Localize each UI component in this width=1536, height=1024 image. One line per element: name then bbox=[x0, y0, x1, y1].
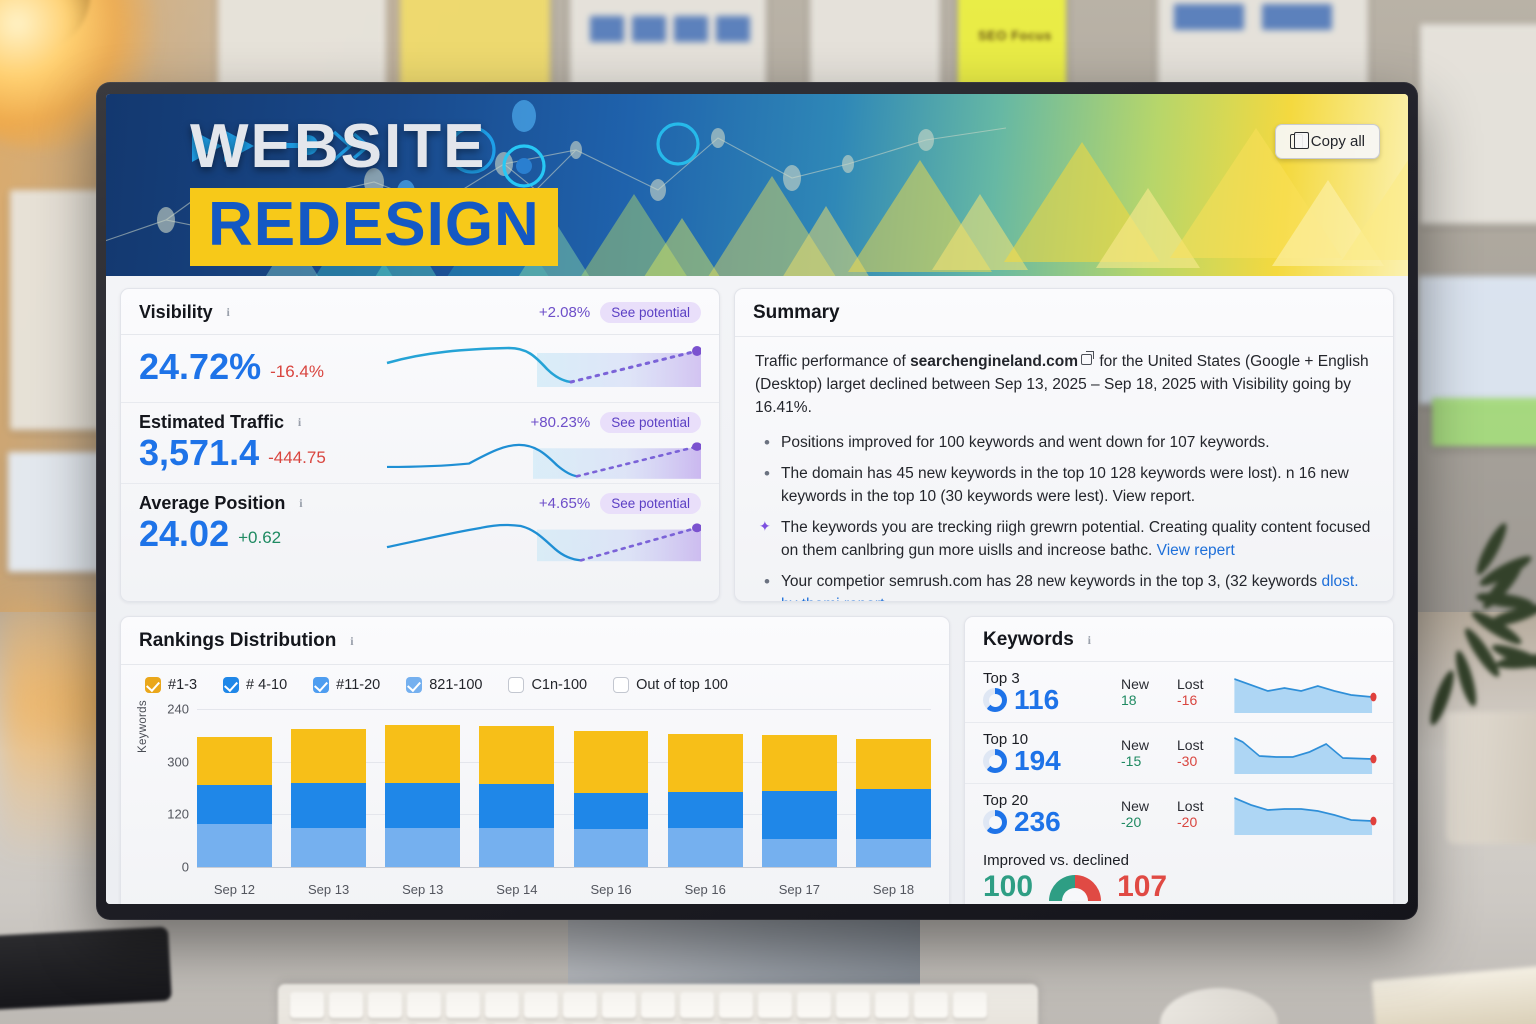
summary-header: Summary bbox=[735, 289, 1393, 337]
chart-y-tick: 120 bbox=[167, 807, 189, 822]
chart-x-tick: Sep 18 bbox=[856, 882, 931, 897]
bullet-text: The domain has 45 new keywords in the to… bbox=[781, 465, 1349, 504]
keywords-lost-stat: Lost -16 bbox=[1177, 676, 1223, 708]
chart-bar-segment bbox=[291, 729, 366, 783]
chart-bar-segment bbox=[385, 828, 460, 867]
chart-x-axis-labels: Sep 12Sep 13Sep 13Sep 14Sep 16Sep 16Sep … bbox=[197, 882, 931, 897]
legend-label: #1-3 bbox=[168, 677, 197, 693]
view-report-link[interactable]: View repert bbox=[1157, 542, 1235, 559]
new-label: New bbox=[1121, 798, 1167, 814]
chart-bar-column[interactable] bbox=[762, 709, 837, 867]
keywords-row-value: 194 bbox=[1014, 747, 1061, 775]
list-item: Your competior semrush.com has 28 new ke… bbox=[755, 571, 1373, 602]
metric-label: Visibility bbox=[139, 302, 213, 323]
chart-bar-segment bbox=[385, 783, 460, 828]
keywords-title: Keywords bbox=[983, 629, 1074, 651]
dashboard-body: Visibility i +2.08% See potential 24.72%… bbox=[106, 276, 1408, 904]
new-value: 18 bbox=[1121, 692, 1167, 708]
legend-label: #11-20 bbox=[336, 677, 380, 693]
endpoint-dot-icon bbox=[1370, 693, 1376, 702]
chart-bar-column[interactable] bbox=[197, 709, 272, 867]
average-position-sparkline bbox=[385, 512, 701, 570]
rankings-chart: Keywords 240 300 120 0 Sep 12Sep 13Sep 1… bbox=[141, 701, 931, 897]
new-value: -20 bbox=[1121, 814, 1167, 830]
chart-x-tick: Sep 16 bbox=[574, 882, 649, 897]
keywords-row-top3: Top 3 116 New 18 Lost -16 bbox=[965, 662, 1393, 722]
keywords-footer: Improved vs. declined 100 107 bbox=[965, 844, 1393, 903]
chart-bar-segment bbox=[762, 735, 837, 790]
chart-x-tick: Sep 13 bbox=[385, 882, 460, 897]
keywords-sparkline-top20 bbox=[1233, 793, 1379, 835]
laptop-edge bbox=[0, 927, 172, 1012]
metrics-card: Visibility i +2.08% See potential 24.72%… bbox=[120, 288, 720, 602]
chart-bar-column[interactable] bbox=[479, 709, 554, 867]
legend-label: # 4-10 bbox=[246, 677, 287, 693]
info-icon[interactable]: i bbox=[1082, 633, 1097, 648]
improved-count: 100 bbox=[983, 872, 1033, 902]
legend-item-21-100[interactable]: 821-100 bbox=[406, 677, 482, 693]
keywords-lost-stat: Lost -20 bbox=[1177, 798, 1223, 830]
bullet-text: The keywords you are trecking riigh grew… bbox=[781, 519, 1370, 558]
gauge-row: 100 107 bbox=[983, 871, 1375, 903]
chart-bar-column[interactable] bbox=[668, 709, 743, 867]
chart-x-tick: Sep 14 bbox=[479, 882, 554, 897]
metric-row-estimated-traffic: Estimated Traffic i +80.23% See potentia… bbox=[121, 402, 719, 483]
metric-potential-pct: +2.08% bbox=[539, 304, 590, 321]
donut-ring-icon bbox=[983, 749, 1007, 773]
keywords-card: Keywords i Top 3 116 New 18 bbox=[964, 616, 1394, 904]
legend-label: Out of top 100 bbox=[636, 677, 728, 693]
wall-paper bbox=[8, 452, 104, 572]
chart-bar-segment bbox=[856, 739, 931, 790]
wall-paper bbox=[1420, 24, 1536, 224]
chart-bar-segment bbox=[762, 839, 837, 867]
donut-ring-icon bbox=[983, 810, 1007, 834]
chart-bar-segment bbox=[856, 789, 931, 838]
chart-y-tick: 300 bbox=[167, 754, 189, 769]
checkbox-unchecked-icon[interactable] bbox=[508, 677, 524, 693]
metric-potential-pct: +4.65% bbox=[539, 495, 590, 512]
chart-bar-segment bbox=[291, 783, 366, 828]
chart-bar-column[interactable] bbox=[291, 709, 366, 867]
sparkle-icon: ✦ bbox=[759, 519, 773, 533]
banner-title-line2: REDESIGN bbox=[208, 194, 540, 256]
metric-label: Average Position bbox=[139, 493, 285, 514]
new-label: New bbox=[1121, 676, 1167, 692]
metric-header-visibility: Visibility i +2.08% See potential bbox=[121, 289, 719, 335]
rankings-legend: #1-3 # 4-10 #11-20 821-100 bbox=[121, 665, 949, 701]
see-potential-button[interactable]: See potential bbox=[600, 493, 701, 514]
keywords-row-value: 236 bbox=[1014, 808, 1061, 836]
chart-bar-segment bbox=[291, 828, 366, 867]
lost-label: Lost bbox=[1177, 676, 1223, 692]
summary-card: Summary Traffic performance of searcheng… bbox=[734, 288, 1394, 602]
rankings-distribution-card: Rankings Distribution i #1-3 # 4-10 #11-… bbox=[120, 616, 950, 904]
legend-label: 821-100 bbox=[429, 677, 482, 693]
bullet-text: Positions improved for 100 keywords and … bbox=[781, 434, 1270, 451]
banner-title-highlight: REDESIGN bbox=[190, 188, 558, 266]
chart-x-tick: Sep 17 bbox=[762, 882, 837, 897]
keywords-row-top20: Top 20 236 New -20 Lost -20 bbox=[965, 783, 1393, 844]
rankings-header: Rankings Distribution i bbox=[121, 617, 949, 665]
checkbox-checked-icon[interactable] bbox=[406, 677, 422, 693]
chart-plot-area: 240 300 120 0 bbox=[197, 709, 931, 867]
lost-value: -30 bbox=[1177, 753, 1223, 769]
chart-bar-segment bbox=[668, 828, 743, 867]
endpoint-dot-icon bbox=[1370, 817, 1376, 826]
metric-row-visibility: 24.72% -16.4% bbox=[121, 335, 719, 402]
chart-bar-segment bbox=[574, 793, 649, 829]
bottom-row: Rankings Distribution i #1-3 # 4-10 #11-… bbox=[120, 616, 1394, 904]
chart-bar-segment bbox=[856, 839, 931, 867]
chart-bar-column[interactable] bbox=[574, 709, 649, 867]
keywords-row-left: Top 3 116 bbox=[983, 670, 1111, 714]
info-icon[interactable]: i bbox=[292, 415, 307, 430]
banner-title: WEBSITE REDESIGN bbox=[190, 116, 558, 266]
summary-body: Traffic performance of searchengineland.… bbox=[735, 337, 1393, 602]
keywords-sparkline-top3 bbox=[1233, 671, 1379, 713]
chart-x-tick: Sep 13 bbox=[291, 882, 366, 897]
summary-title: Summary bbox=[753, 302, 840, 324]
legend-label: C1n-100 bbox=[531, 677, 587, 693]
declined-count: 107 bbox=[1117, 872, 1167, 902]
copy-all-label: Copy all bbox=[1311, 133, 1365, 150]
chart-bar-segment bbox=[197, 824, 272, 867]
chart-bar-segment bbox=[479, 726, 554, 784]
report-banner: WEBSITE REDESIGN Copy all bbox=[106, 94, 1408, 276]
legend-item-out-of-top-100[interactable]: Out of top 100 bbox=[613, 677, 728, 693]
top-row: Visibility i +2.08% See potential 24.72%… bbox=[120, 288, 1394, 602]
chart-bar-segment bbox=[197, 785, 272, 824]
keywords-header: Keywords i bbox=[965, 617, 1393, 662]
checkbox-unchecked-icon[interactable] bbox=[613, 677, 629, 693]
checkbox-checked-icon[interactable] bbox=[313, 677, 329, 693]
bullet-text: Your competior semrush.com has 28 new ke… bbox=[781, 573, 1321, 590]
keywords-lost-stat: Lost -30 bbox=[1177, 737, 1223, 769]
estimated-traffic-sparkline bbox=[385, 433, 701, 489]
info-icon[interactable]: i bbox=[221, 305, 236, 320]
new-value: -15 bbox=[1121, 753, 1167, 769]
copy-icon bbox=[1290, 134, 1303, 149]
keywords-new-stat: New -15 bbox=[1121, 737, 1167, 769]
chart-bar-segment bbox=[479, 784, 554, 828]
chart-bar-segment bbox=[668, 792, 743, 828]
screen: WEBSITE REDESIGN Copy all Visibility i +… bbox=[106, 94, 1408, 904]
chart-bar-segment bbox=[574, 731, 649, 792]
chart-bar-segment bbox=[479, 828, 554, 867]
chart-y-tick: 0 bbox=[182, 860, 189, 875]
chart-y-tick: 240 bbox=[167, 702, 189, 717]
summary-bullet-list: Positions improved for 100 keywords and … bbox=[755, 432, 1373, 602]
chart-y-axis-title: Keywords bbox=[137, 700, 149, 753]
keywords-row-left: Top 20 236 bbox=[983, 792, 1111, 836]
keywords-new-stat: New -20 bbox=[1121, 798, 1167, 830]
chart-x-tick: Sep 16 bbox=[668, 882, 743, 897]
gauge-icon bbox=[1045, 871, 1105, 903]
metric-value: 24.02 bbox=[139, 515, 229, 553]
metric-delta: -444.75 bbox=[268, 448, 326, 472]
new-label: New bbox=[1121, 737, 1167, 753]
keyboard[interactable] bbox=[278, 984, 1038, 1024]
endpoint-dot-icon bbox=[1370, 755, 1376, 764]
sticky-note-green bbox=[1432, 398, 1536, 446]
chart-bar-segment bbox=[762, 791, 837, 839]
lost-label: Lost bbox=[1177, 798, 1223, 814]
list-item: The domain has 45 new keywords in the to… bbox=[755, 463, 1373, 508]
legend-item-4-10[interactable]: # 4-10 bbox=[223, 677, 287, 693]
chart-bar-column[interactable] bbox=[856, 709, 931, 867]
see-potential-button[interactable]: See potential bbox=[600, 302, 701, 323]
sticky-note-label: SEO Focus bbox=[978, 28, 1052, 43]
metric-value: 24.72% bbox=[139, 348, 261, 386]
keywords-row-top10: Top 10 194 New -15 Lost -30 bbox=[965, 722, 1393, 783]
improved-vs-declined-label: Improved vs. declined bbox=[983, 852, 1375, 869]
external-link-icon[interactable] bbox=[1081, 354, 1092, 365]
lost-label: Lost bbox=[1177, 737, 1223, 753]
metric-delta: -16.4% bbox=[270, 362, 324, 386]
plant-leaves bbox=[1418, 548, 1536, 738]
copy-all-button[interactable]: Copy all bbox=[1275, 124, 1380, 159]
see-potential-button[interactable]: See potential bbox=[600, 412, 701, 433]
keywords-new-stat: New 18 bbox=[1121, 676, 1167, 708]
summary-intro: Traffic performance of searchengineland.… bbox=[755, 351, 1373, 420]
metric-label: Estimated Traffic bbox=[139, 412, 284, 433]
metric-value: 3,571.4 bbox=[139, 434, 259, 472]
keywords-row-left: Top 10 194 bbox=[983, 731, 1111, 775]
legend-item-11-20[interactable]: #11-20 bbox=[313, 677, 380, 693]
list-item: Positions improved for 100 keywords and … bbox=[755, 432, 1373, 454]
chart-bar-segment bbox=[385, 725, 460, 783]
checkbox-checked-icon[interactable] bbox=[145, 677, 161, 693]
chart-bar-column[interactable] bbox=[385, 709, 460, 867]
rankings-title: Rankings Distribution bbox=[139, 630, 336, 652]
keywords-sparkline-top10 bbox=[1233, 732, 1379, 774]
summary-domain[interactable]: searchengineland.com bbox=[910, 353, 1078, 370]
checkbox-checked-icon[interactable] bbox=[223, 677, 239, 693]
metric-delta: +0.62 bbox=[238, 528, 281, 552]
lost-value: -20 bbox=[1177, 814, 1223, 830]
metric-potential-pct: +80.23% bbox=[531, 414, 591, 431]
visibility-sparkline bbox=[385, 339, 701, 405]
monitor: WEBSITE REDESIGN Copy all Visibility i +… bbox=[96, 82, 1418, 920]
keywords-row-value: 116 bbox=[1014, 686, 1059, 714]
chart-bar-segment bbox=[574, 829, 649, 867]
chart-bar-segment bbox=[197, 737, 272, 786]
banner-title-line1: WEBSITE bbox=[190, 116, 558, 178]
legend-item-1n-100[interactable]: C1n-100 bbox=[508, 677, 587, 693]
legend-item-1-3[interactable]: #1-3 bbox=[145, 677, 197, 693]
lost-value: -16 bbox=[1177, 692, 1223, 708]
list-item: ✦ The keywords you are trecking riigh gr… bbox=[755, 517, 1373, 562]
summary-intro-a: Traffic performance of bbox=[755, 353, 910, 370]
info-icon[interactable]: i bbox=[344, 634, 359, 649]
metric-row-average-position: Average Position i +4.65% See potential … bbox=[121, 483, 719, 564]
chart-bar-segment bbox=[668, 734, 743, 792]
info-icon[interactable]: i bbox=[293, 496, 308, 511]
chart-bars bbox=[197, 709, 931, 867]
chart-x-tick: Sep 12 bbox=[197, 882, 272, 897]
donut-ring-icon bbox=[983, 688, 1007, 712]
wall-paper bbox=[1418, 276, 1536, 404]
